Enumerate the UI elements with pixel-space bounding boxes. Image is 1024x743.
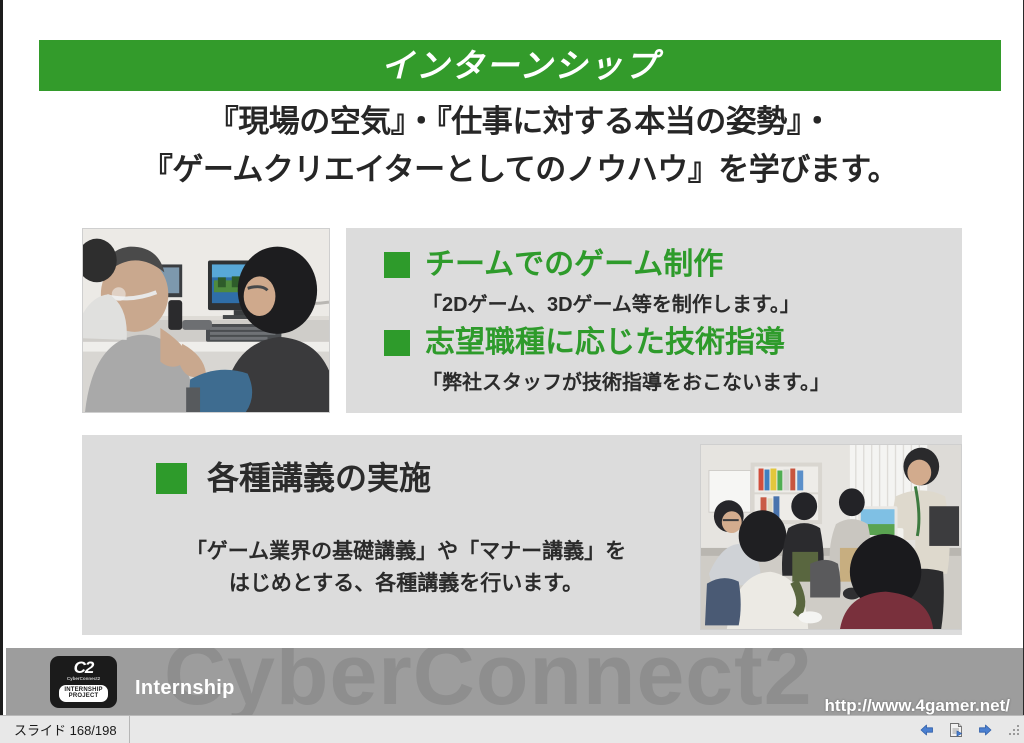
bullet-heading-2: 志望職種に応じた技術指導 — [425, 328, 785, 358]
footer-watermark: CyberConnect2 — [164, 648, 813, 715]
bullet-block-1: チームでのゲーム制作 — [384, 250, 723, 280]
next-arrow-icon[interactable] — [977, 722, 993, 738]
slide-canvas: インターンシップ 『現場の空気』・『仕事に対する本当の姿勢』・ 『ゲームクリエイ… — [6, 0, 1023, 715]
bullet-body-3-line-2: はじめとする、各種講義を行います。 — [126, 568, 686, 600]
slide-title-bar: インターンシップ — [39, 40, 1001, 91]
photo-lecture-session — [700, 444, 962, 630]
subtitle-line-1: 『現場の空気』・『仕事に対する本当の姿勢』・ — [208, 104, 833, 139]
logo-pill-line-2: PROJECT — [64, 693, 102, 700]
bullet-heading-3: 各種講義の実施 — [207, 462, 431, 494]
source-site-url: http://www.4gamer.net/ — [825, 697, 1010, 714]
logo-sub-text: CyberConnect2 — [67, 677, 100, 682]
logo-mark-text: C2 — [74, 659, 94, 676]
logo-pill-line-1: INTERNSHIP — [64, 687, 102, 694]
page-document-icon[interactable] — [948, 722, 964, 738]
bullet-body-3-line-1: 「ゲーム業界の基礎講義」や「マナー講義」を — [126, 536, 686, 568]
bullet-block-2: 志望職種に応じた技術指導 — [384, 328, 785, 358]
slide-title: インターンシップ — [381, 49, 659, 82]
resize-grip-icon[interactable] — [1007, 723, 1021, 737]
bullet-block-3: 各種講義の実施 — [156, 462, 431, 494]
previous-arrow-icon[interactable] — [919, 722, 935, 738]
bullet-caption-2: 「弊社スタッフが技術指導をおこないます。」 — [422, 373, 830, 393]
subtitle-line-2: 『ゲームクリエイターとしてのノウハウ』を学びます。 — [39, 146, 1001, 194]
status-bar-navigation — [919, 722, 1007, 738]
slide-footer: CyberConnect2 C2 CyberConnect2 INTERNSHI… — [6, 648, 1023, 715]
status-bar: スライド 168/198 — [0, 715, 1024, 743]
footer-label: Internship — [135, 678, 235, 698]
logo-pill: INTERNSHIP PROJECT — [59, 685, 107, 703]
slide-subtitle: 『現場の空気』・『仕事に対する本当の姿勢』・ 『ゲームクリエイターとしてのノウハ… — [39, 98, 1001, 194]
slide-viewer: インターンシップ 『現場の空気』・『仕事に対する本当の姿勢』・ 『ゲームクリエイ… — [0, 0, 1024, 743]
green-square-bullet-icon — [384, 330, 410, 356]
photo-game-development-image — [83, 229, 329, 412]
cyberconnect2-logo: C2 CyberConnect2 INTERNSHIP PROJECT — [50, 656, 117, 708]
green-square-bullet-icon — [384, 252, 410, 278]
bullet-caption-1: 「2Dゲーム、3Dゲーム等を制作します。」 — [422, 295, 800, 315]
bullet-body-3: 「ゲーム業界の基礎講義」や「マナー講義」を はじめとする、各種講義を行います。 — [126, 536, 686, 599]
photo-game-development — [82, 228, 330, 413]
bullet-heading-1: チームでのゲーム制作 — [425, 250, 723, 280]
green-square-bullet-icon — [156, 463, 187, 494]
slide-counter: スライド 168/198 — [0, 716, 130, 743]
photo-lecture-session-image — [701, 445, 961, 629]
